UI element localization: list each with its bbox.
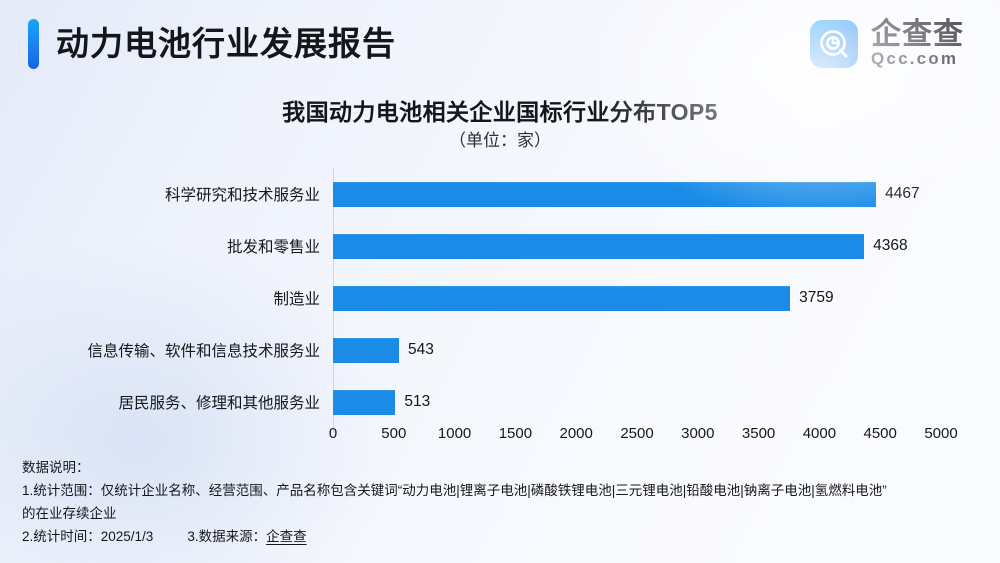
bar-value-label: 3759 <box>799 289 833 307</box>
bar-row: 居民服务、修理和其他服务业513 <box>0 376 1000 428</box>
x-axis-tick-label: 2000 <box>541 425 611 442</box>
x-axis-tick-label: 500 <box>359 425 429 442</box>
bar-value-label: 543 <box>408 341 434 359</box>
bar[interactable] <box>333 286 790 311</box>
footnote-source: 3.数据来源：企查查 <box>187 525 306 548</box>
bar[interactable] <box>333 338 399 363</box>
x-axis-tick-label: 1000 <box>420 425 490 442</box>
category-label: 信息传输、软件和信息技术服务业 <box>0 339 320 361</box>
bar-value-label: 4467 <box>885 185 919 203</box>
footnote-heading: 数据说明： <box>22 456 990 479</box>
footnote-source-label: 3.数据来源： <box>187 529 266 544</box>
page-title: 动力电池行业发展报告 <box>56 20 396 68</box>
footnote-source-value[interactable]: 企查查 <box>266 529 307 544</box>
bar[interactable] <box>333 390 395 415</box>
x-axis-tick-label: 4000 <box>784 425 854 442</box>
logo-wordmark: 企查查 Qcc.com <box>871 20 964 68</box>
bar-value-label: 4368 <box>873 237 907 255</box>
footnote-scope-line1: 1.统计范围：仅统计企业名称、经营范围、产品名称包含关键词“动力电池|锂离子电池… <box>22 479 990 502</box>
bar-row: 批发和零售业4368 <box>0 220 1000 272</box>
x-axis-tick-label: 1500 <box>480 425 550 442</box>
bar-row: 制造业3759 <box>0 272 1000 324</box>
bar-row: 科学研究和技术服务业4467 <box>0 168 1000 220</box>
x-axis-tick-label: 2500 <box>602 425 672 442</box>
x-axis-tick-label: 3500 <box>724 425 794 442</box>
category-label: 科学研究和技术服务业 <box>0 183 320 205</box>
qcc-logo-icon <box>810 20 858 68</box>
title-accent-bar <box>28 19 39 69</box>
bar[interactable] <box>333 234 864 259</box>
bar[interactable] <box>333 182 876 207</box>
x-axis-tick-label: 3000 <box>663 425 733 442</box>
bar-value-label: 513 <box>404 393 430 411</box>
footnote-date: 2.统计时间：2025/1/3 <box>22 525 153 548</box>
bar-chart-plot: 科学研究和技术服务业4467批发和零售业4368制造业3759信息传输、软件和信… <box>0 160 1000 452</box>
x-axis-tick-label: 0 <box>298 425 368 442</box>
brand-logo: 企查查 Qcc.com <box>810 20 964 68</box>
bar-row: 信息传输、软件和信息技术服务业543 <box>0 324 1000 376</box>
x-axis-tick-label: 4500 <box>845 425 915 442</box>
footnote-scope-line2: 的在业存续企业 <box>22 502 990 525</box>
chart-footnotes: 数据说明： 1.统计范围：仅统计企业名称、经营范围、产品名称包含关键词“动力电池… <box>22 456 990 548</box>
chart-subtitle: （单位：家） <box>0 126 1000 151</box>
chart-title: 我国动力电池相关企业国标行业分布TOP5 <box>0 93 1000 127</box>
x-axis-tick-label: 5000 <box>906 425 976 442</box>
category-label: 居民服务、修理和其他服务业 <box>0 391 320 413</box>
x-axis: 0500100015002000250030003500400045005000 <box>0 425 1000 451</box>
category-label: 制造业 <box>0 287 320 309</box>
report-page: 动力电池行业发展报告 企查查 Qcc.com 我国动力电池相关企业国标行业分布T… <box>0 0 1000 563</box>
logo-name-cn: 企查查 <box>871 20 964 49</box>
page-header: 动力电池行业发展报告 企查查 Qcc.com <box>0 0 1000 86</box>
logo-name-en: Qcc.com <box>871 49 964 68</box>
category-label: 批发和零售业 <box>0 235 320 257</box>
